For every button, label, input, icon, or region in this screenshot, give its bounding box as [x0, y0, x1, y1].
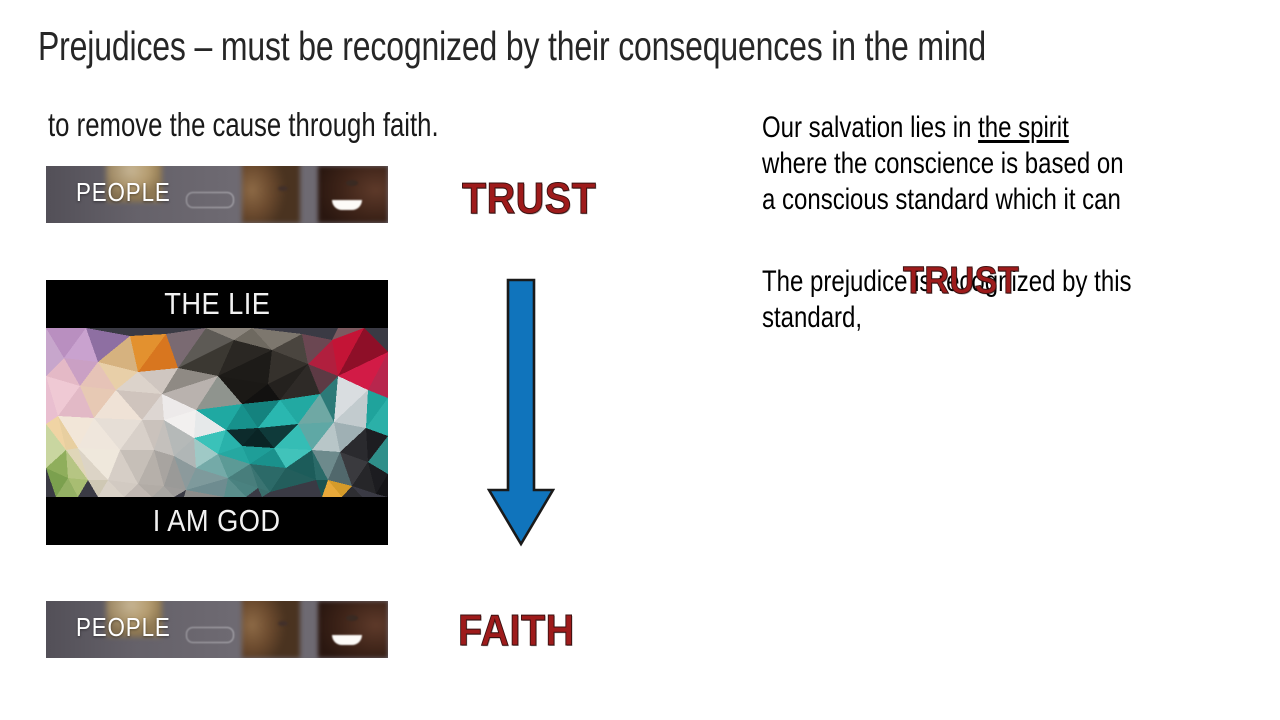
the-spirit-underlined: the spirit	[978, 111, 1069, 144]
the-lie-band: THE LIE	[46, 280, 388, 328]
right-line-1-text: Our salvation lies in	[762, 111, 978, 144]
faith-label-bottom: FAITH	[458, 605, 575, 657]
right-para-line-2: standard,	[762, 300, 1154, 336]
low-poly-eye-mosaic-icon	[46, 328, 388, 497]
lie-image-block: THE LIE	[46, 280, 388, 545]
trust-label-right: TRUST	[903, 258, 1019, 304]
the-lie-label: THE LIE	[164, 284, 270, 324]
down-arrow-icon	[487, 278, 555, 548]
trust-label-top: TRUST	[462, 173, 596, 225]
slide-canvas: Prejudices – must be recognized by their…	[0, 0, 1280, 720]
people-banner-label: PEOPLE	[76, 610, 171, 644]
page-title: Prejudices – must be recognized by their…	[38, 20, 958, 72]
people-banner-top: PEOPLE	[46, 166, 388, 223]
right-line-1: Our salvation lies in the spirit	[762, 110, 1154, 146]
people-banner-bottom: PEOPLE	[46, 601, 388, 658]
right-line-2: where the conscience is based on	[762, 146, 1154, 182]
i-am-god-label: I AM GOD	[153, 501, 281, 541]
i-am-god-band: I AM GOD	[46, 497, 388, 545]
right-line-3: a conscious standard which it can	[762, 182, 1154, 218]
people-banner-label: PEOPLE	[76, 175, 171, 209]
slide-subtitle: to remove the cause through faith.	[48, 104, 439, 146]
